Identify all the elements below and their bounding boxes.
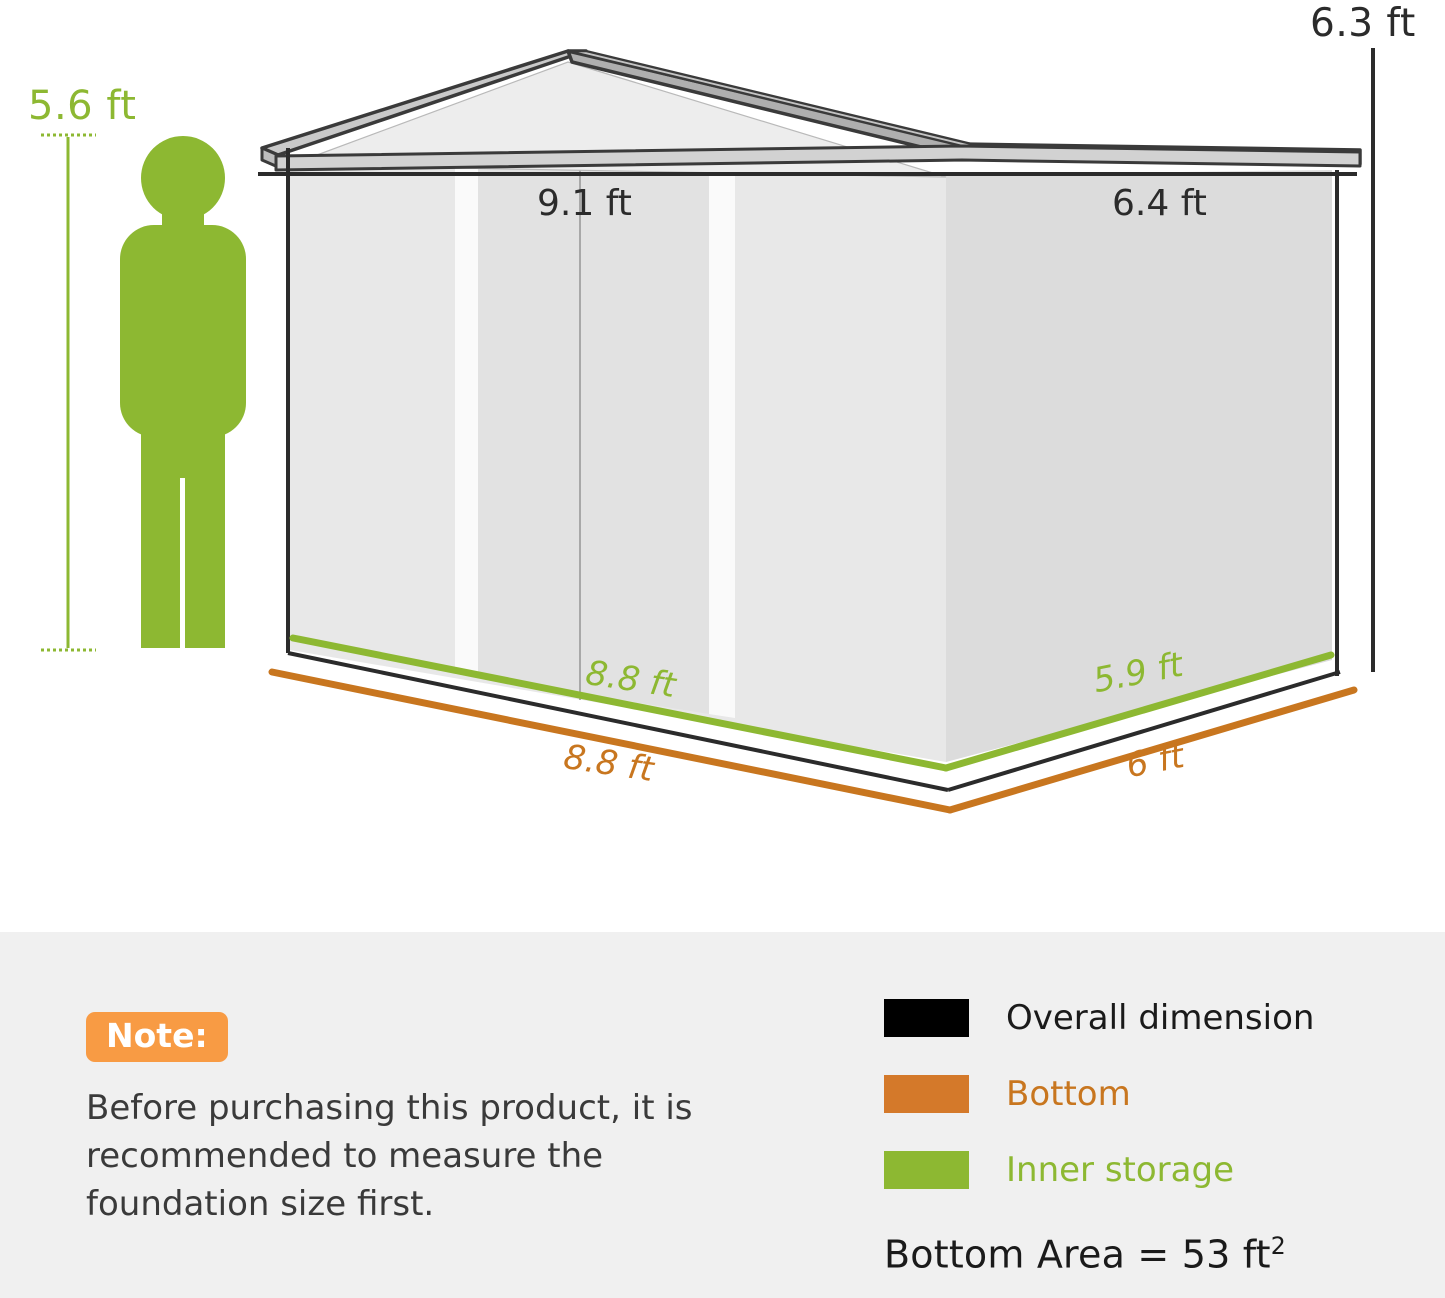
legend-item-overall-dimension: Overall dimension: [884, 980, 1404, 1056]
bottom-area-exponent: 2: [1271, 1232, 1286, 1260]
legend-label-inner-storage: Inner storage: [1006, 1153, 1234, 1187]
shed-illustration-panel: 5.6 ft 6.3 ft 9.1 ft 6.4 ft 8.8 ft 8.8 f…: [0, 0, 1445, 932]
legend-swatch-bottom: [884, 1075, 969, 1113]
legend-item-bottom: Bottom: [884, 1056, 1404, 1132]
front-door-panel: [478, 166, 709, 714]
legend-swatch-inner-storage: [884, 1151, 969, 1189]
legend-label-bottom: Bottom: [1006, 1077, 1131, 1111]
front-panel-seam-left: [455, 165, 478, 678]
person-height-dimension-line: [41, 135, 96, 650]
shed-dimension-drawing: [0, 0, 1445, 932]
legend-swatch-overall-dimension: [884, 999, 969, 1037]
bottom-area-text: Bottom Area = 53 ft2: [884, 1232, 1404, 1277]
note-text: Before purchasing this product, it is re…: [86, 1084, 756, 1229]
legend-block: Overall dimension Bottom Inner storage B…: [884, 980, 1404, 1277]
front-panel-seam-right: [709, 170, 735, 718]
legend-item-inner-storage: Inner storage: [884, 1132, 1404, 1208]
bottom-area-value: Bottom Area = 53 ft: [884, 1233, 1271, 1277]
note-badge: Note:: [86, 1012, 228, 1062]
info-panel: Note: Before purchasing this product, it…: [0, 932, 1445, 1298]
legend-label-overall-dimension: Overall dimension: [1006, 1001, 1314, 1035]
person-silhouette-icon: [120, 136, 246, 648]
note-block: Note: Before purchasing this product, it…: [86, 1012, 786, 1228]
